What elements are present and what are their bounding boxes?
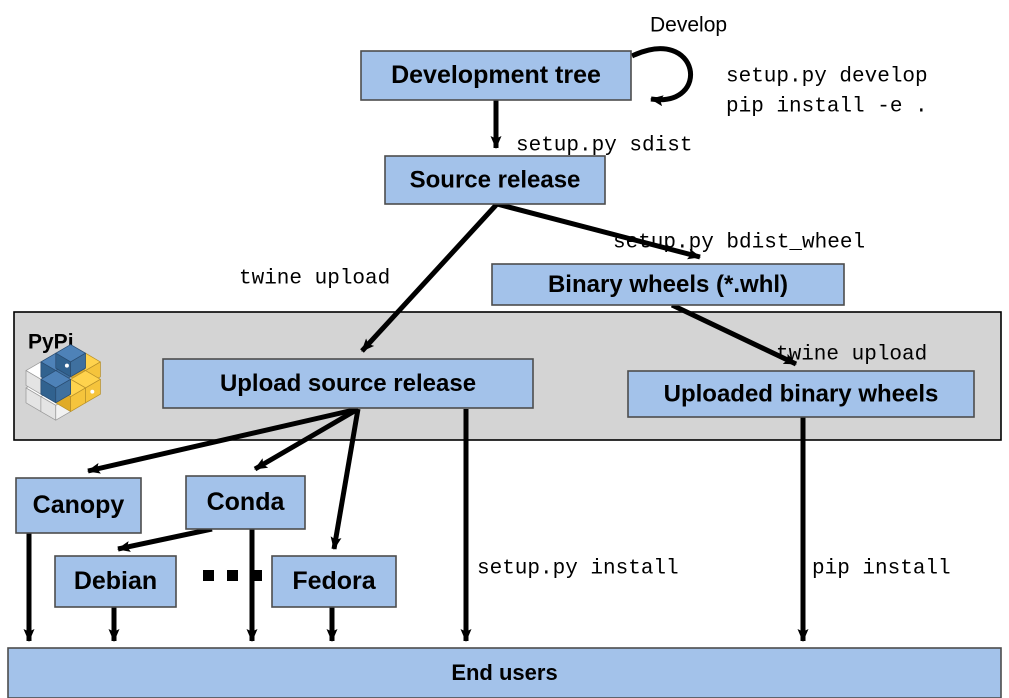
node-debian-label: Debian [74, 567, 157, 595]
node-canopy-label: Canopy [33, 491, 125, 519]
diagram-canvas: PyPi [0, 0, 1009, 698]
node-fedora[interactable]: Fedora [272, 556, 396, 607]
edge-label-setup-py-install: setup.py install [477, 558, 679, 581]
node-binary-wheels-label: Binary wheels (*.whl) [548, 271, 788, 298]
edge-label-setup-bdist-wheel: setup.py bdist_wheel [613, 232, 865, 255]
node-canopy[interactable]: Canopy [16, 478, 141, 533]
edge-label-setup-develop: setup.py develop [726, 66, 928, 89]
node-upload-source[interactable]: Upload source release [163, 359, 533, 408]
node-upload-source-label: Upload source release [220, 370, 476, 397]
edge-label-pip-install-e: pip install -e . [726, 96, 928, 119]
node-binary-wheels[interactable]: Binary wheels (*.whl) [492, 264, 844, 305]
edge-label-develop: Develop [650, 14, 727, 37]
node-conda-label: Conda [207, 488, 286, 516]
packaging-flow-diagram: PyPi [0, 0, 1009, 698]
edge-label-twine-upload-src: twine upload [239, 268, 390, 291]
node-dev-tree-label: Development tree [391, 61, 601, 89]
node-fedora-label: Fedora [292, 567, 376, 595]
node-source-release[interactable]: Source release [385, 156, 605, 204]
more-distros-ellipsis [203, 570, 262, 581]
node-debian[interactable]: Debian [55, 556, 176, 607]
node-end-users[interactable]: End users [8, 648, 1001, 698]
node-conda[interactable]: Conda [186, 476, 305, 529]
node-dev-tree[interactable]: Development tree [361, 51, 631, 100]
node-uploaded-wheels-label: Uploaded binary wheels [664, 380, 939, 407]
edge-label-twine-upload-whl: twine upload [776, 344, 927, 367]
node-end-users-label: End users [451, 660, 557, 685]
node-uploaded-wheels[interactable]: Uploaded binary wheels [628, 371, 974, 417]
node-source-release-label: Source release [410, 166, 581, 193]
edge-label-pip-install: pip install [812, 558, 951, 581]
edge-label-setup-sdist: setup.py sdist [516, 135, 692, 158]
edge-develop-loop [632, 49, 691, 100]
